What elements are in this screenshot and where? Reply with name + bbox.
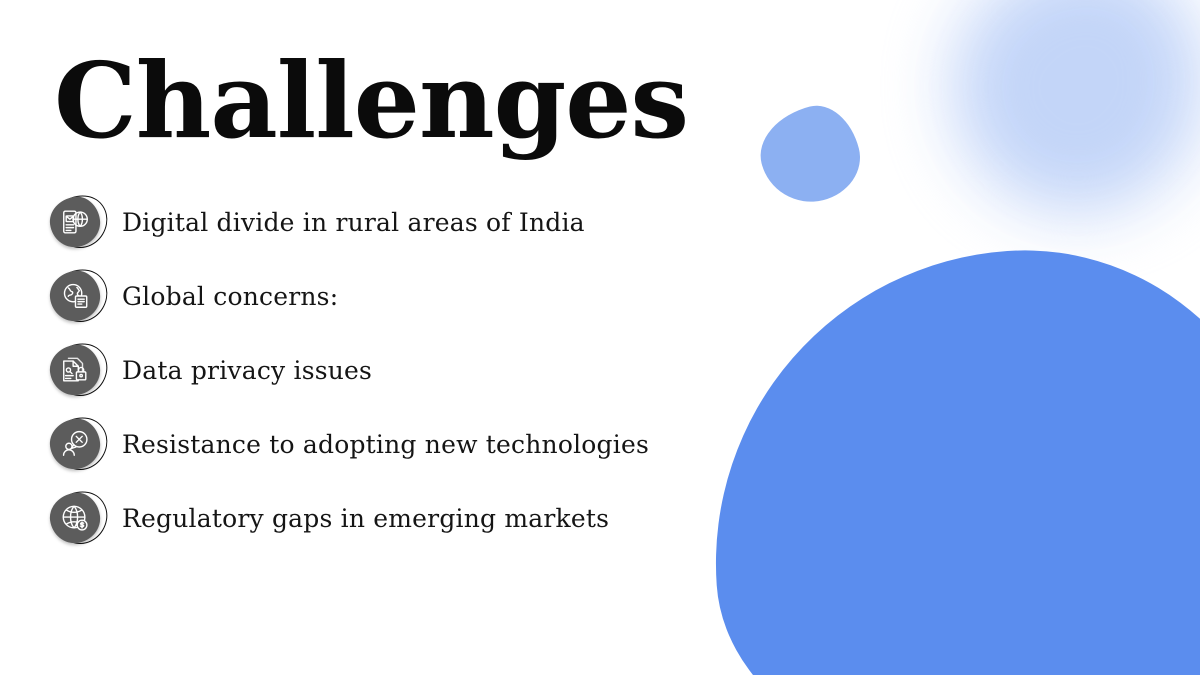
list-item-label: Data privacy issues <box>122 356 372 385</box>
large-blue-blob <box>695 232 1200 675</box>
document-lock-icon <box>50 342 106 398</box>
mobile-globe-mail-icon <box>50 194 106 250</box>
list-item-label: Regulatory gaps in emerging markets <box>122 504 609 533</box>
page-title: Challenges <box>54 46 688 155</box>
list-item: Digital divide in rural areas of India <box>50 192 670 252</box>
challenges-list: Digital divide in rural areas of India G… <box>50 192 670 562</box>
list-item: Global concerns: <box>50 266 670 326</box>
soft-blurred-blue-blob <box>952 0 1200 213</box>
person-rejection-bubble-icon <box>50 416 106 472</box>
list-item-label: Global concerns: <box>122 282 338 311</box>
list-item-label: Resistance to adopting new technologies <box>122 430 649 459</box>
badge-glyph <box>50 271 100 321</box>
list-item: Regulatory gaps in emerging markets <box>50 488 670 548</box>
badge-glyph <box>50 493 100 543</box>
list-item: Data privacy issues <box>50 340 670 400</box>
badge-glyph <box>50 345 100 395</box>
list-item-label: Digital divide in rural areas of India <box>122 208 585 237</box>
small-light-blue-blob <box>751 98 869 213</box>
globe-document-icon <box>50 268 106 324</box>
list-item: Resistance to adopting new technologies <box>50 414 670 474</box>
badge-glyph <box>50 419 100 469</box>
slide-canvas: Challenges Digital <box>0 0 1200 675</box>
globe-money-icon <box>50 490 106 546</box>
badge-glyph <box>50 197 100 247</box>
